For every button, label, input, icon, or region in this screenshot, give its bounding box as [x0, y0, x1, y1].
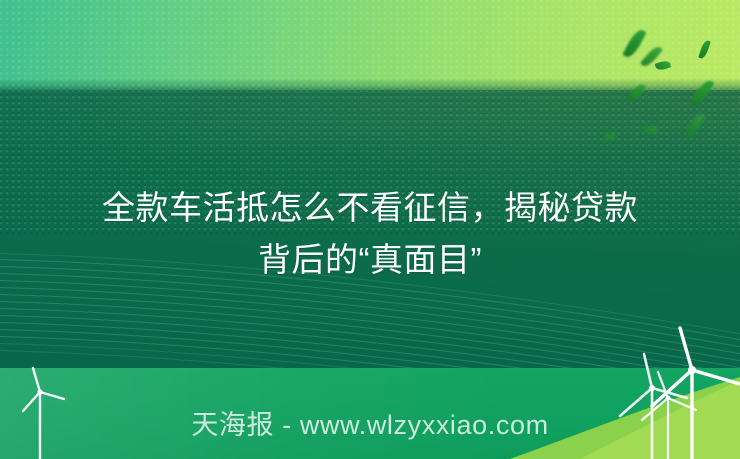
watermark-text: 天海报 - www.wlzyxxiao.com	[0, 406, 740, 444]
title-block: 全款车活抵怎么不看征信，揭秘贷款 背后的“真面目”	[0, 182, 740, 286]
poster-title: 全款车活抵怎么不看征信，揭秘贷款 背后的“真面目”	[46, 182, 694, 286]
poster-canvas: 全款车活抵怎么不看征信，揭秘贷款 背后的“真面目” 天海报 - www.wlzy…	[0, 0, 740, 459]
